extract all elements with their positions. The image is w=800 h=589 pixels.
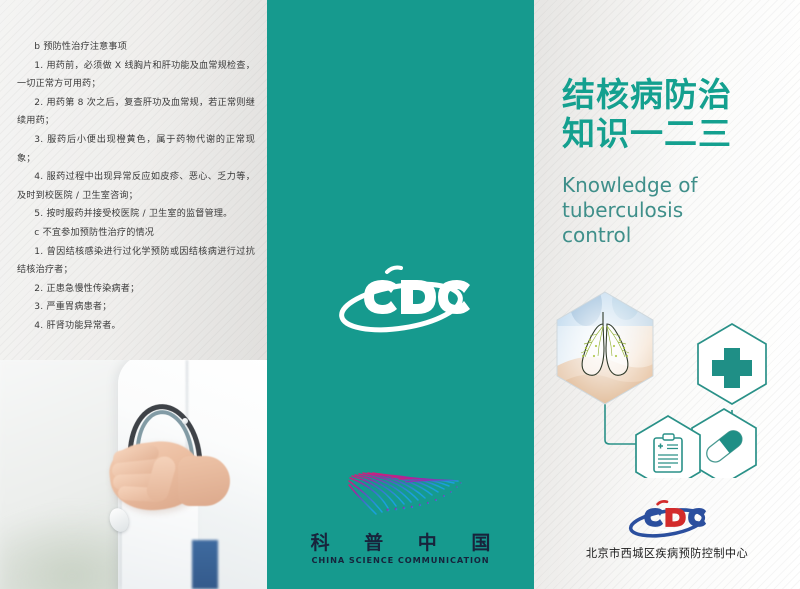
paragraph: 3. 服药后小便出现橙黄色，属于药物代谢的正常现象；	[17, 131, 255, 168]
paragraph: 1. 曾因结核感染进行过化学预防或因结核病进行过抗结核治疗者；	[17, 243, 255, 280]
left-body-text: b 预防性治疗注意事项 1. 用药前，必须做 X 线胸片和肝功能及血常规检查，一…	[17, 38, 255, 336]
paragraph: 3. 严重胃病患者；	[17, 298, 255, 317]
wrist	[178, 456, 230, 506]
cdc-logo-color-icon	[624, 499, 710, 539]
left-panel: b 预防性治疗注意事项 1. 用药前，必须做 X 线胸片和肝功能及血常规检查，一…	[0, 0, 267, 589]
clipboard-icon	[654, 434, 682, 472]
kepu-china-en-label: CHINA SCIENCE COMMUNICATION	[296, 555, 506, 565]
brochure-page: b 预防性治疗注意事项 1. 用药前，必须做 X 线胸片和肝功能及血常规检查，一…	[0, 0, 800, 589]
lab-coat-button	[182, 418, 188, 424]
paragraph: c 不宜参加预防性治疗的情况	[17, 224, 255, 243]
doctor-photo	[0, 360, 267, 589]
page-title-en: Knowledge of tuberculosis control	[562, 173, 777, 248]
lanyard-strap	[192, 540, 218, 589]
capsule-hex	[692, 409, 756, 478]
hexagon-infographic-svg	[546, 288, 800, 478]
title-en-line-1: Knowledge of	[562, 173, 777, 198]
title-en-line-3: control	[562, 223, 777, 248]
title-en-line-2: tuberculosis	[562, 198, 777, 223]
paragraph: b 预防性治疗注意事项	[17, 38, 255, 57]
kepu-china-logo: 科 普 中 国 CHINA SCIENCE COMMUNICATION	[296, 464, 506, 565]
title-cn-line-2: 知识一二三	[562, 114, 784, 153]
paragraph: 2. 正患急慢性传染病者；	[17, 280, 255, 299]
page-title-cn: 结核病防治 知识一二三	[562, 75, 784, 153]
organization-branding: 北京市西城区疾病预防控制中心	[534, 499, 800, 561]
paragraph: 2. 用药第 8 次之后，复查肝功及血常规，若正常则继续用药；	[17, 94, 255, 131]
right-panel: 结核病防治 知识一二三 Knowledge of tuberculosis co…	[534, 0, 800, 589]
cross-hex	[698, 324, 766, 404]
cdc-logo-white-icon	[331, 262, 471, 336]
gradient-wing-icon	[336, 464, 466, 526]
title-cn-line-1: 结核病防治	[562, 75, 784, 114]
paragraph: 1. 用药前，必须做 X 线胸片和肝功能及血常规检查，一切正常方可用药；	[17, 57, 255, 94]
kepu-china-cn-label: 科 普 中 国	[296, 533, 506, 554]
paragraph: 4. 肝肾功能异常者。	[17, 317, 255, 336]
center-panel: 科 普 中 国 CHINA SCIENCE COMMUNICATION	[267, 0, 534, 589]
hexagon-infographic	[546, 288, 800, 478]
paragraph: 4. 服药过程中出现异常反应如皮疹、恶心、乏力等，及时到校医院 / 卫生室咨询；	[17, 168, 255, 205]
organization-name: 北京市西城区疾病预防控制中心	[534, 545, 800, 561]
clipboard-hex	[636, 416, 700, 478]
paragraph: 5. 按时服药并接受校医院 / 卫生室的监督管理。	[17, 205, 255, 224]
lungs-photo-hex	[557, 288, 653, 404]
